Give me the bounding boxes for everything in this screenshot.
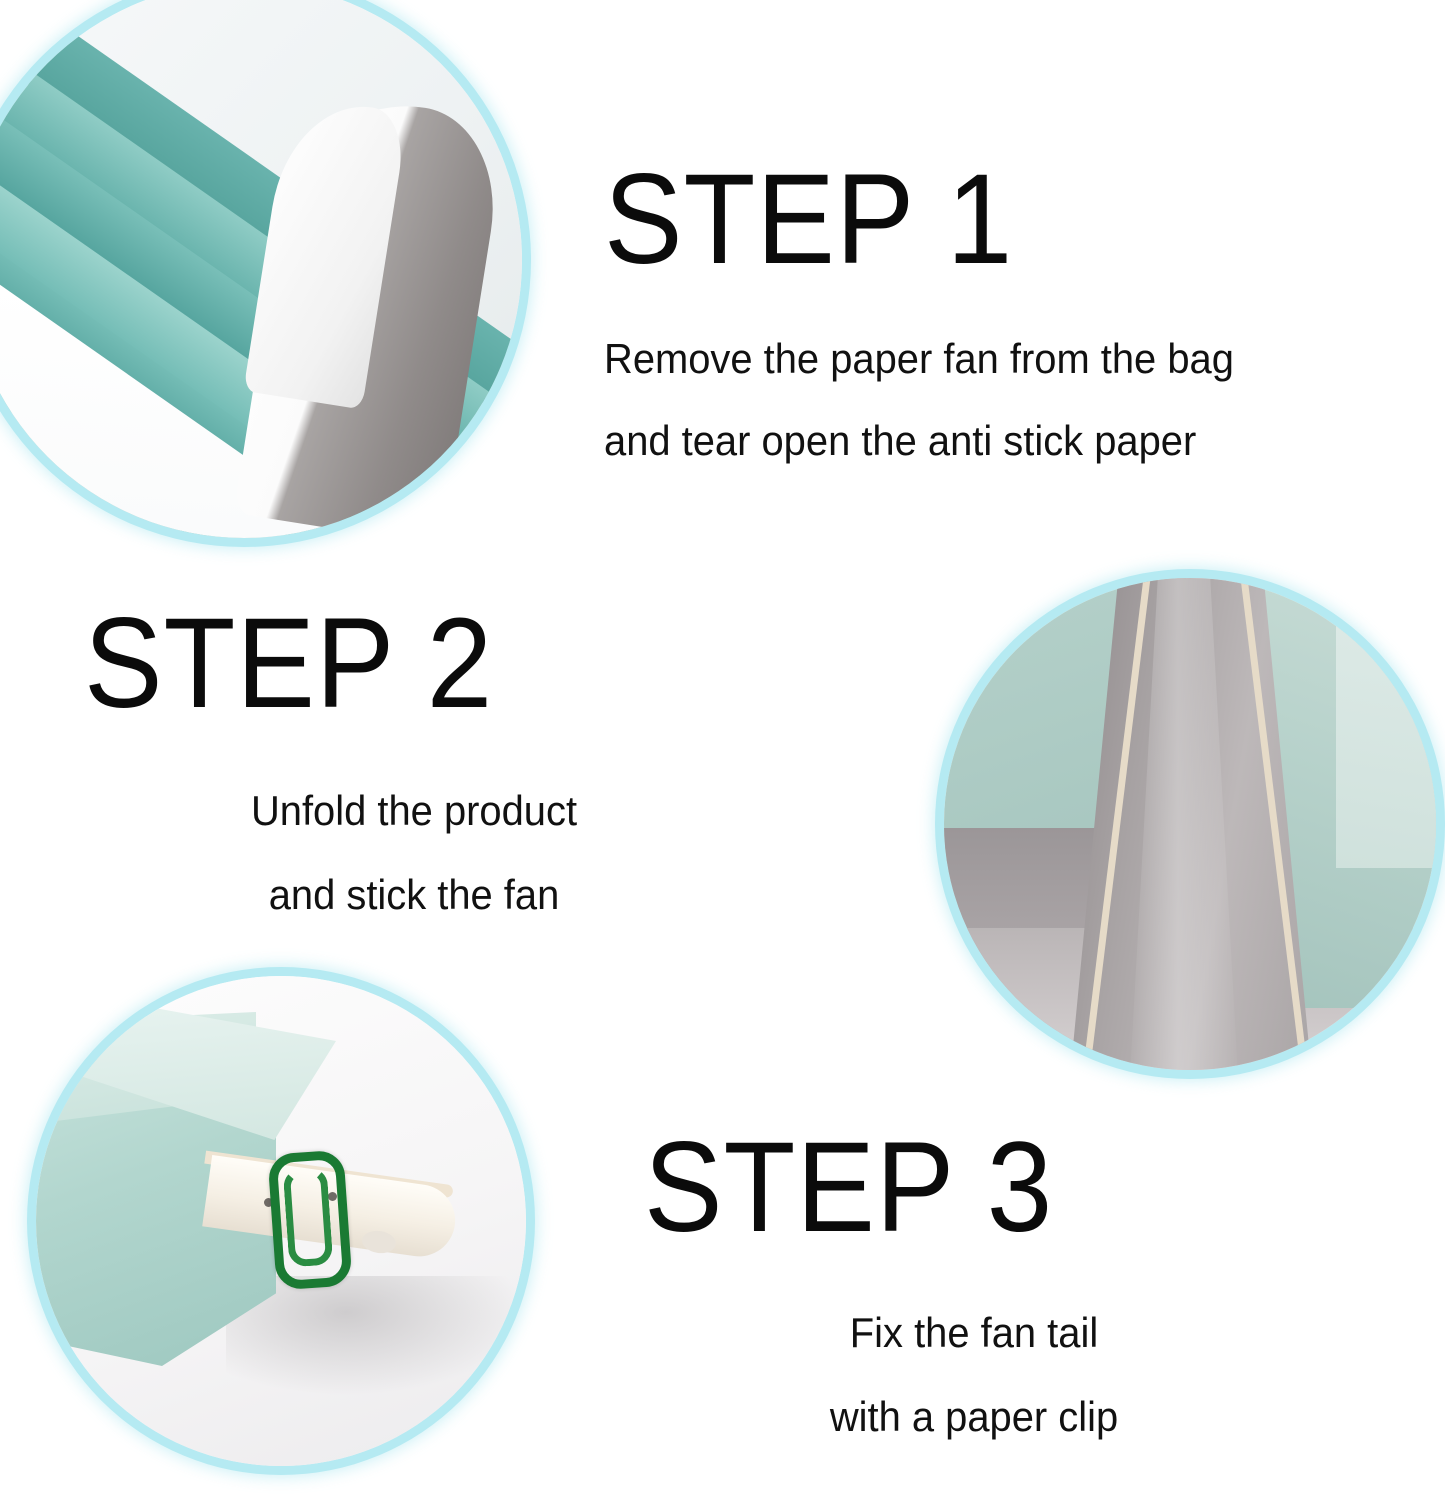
step3-description-line-2: with a paper clip [661,1396,1288,1438]
step1-photo-inner [0,0,522,538]
step3-heading: STEP 3 [644,1124,1251,1252]
step1-description: Remove the paper fan from the bag and te… [604,338,1234,462]
step3-text-block: STEP 3 Fix the fan tail with a paper cli… [644,1124,1304,1438]
step2-description-line-1: Unfold the product [101,790,728,832]
instruction-infographic: STEP 1 Remove the paper fan from the bag… [0,0,1445,1497]
step2-text-block: STEP 2 Unfold the product and stick the … [84,600,744,916]
step3-photo-inner [36,976,526,1466]
step1-text-block: STEP 1 Remove the paper fan from the bag… [604,156,1267,462]
step1-heading: STEP 1 [604,156,1214,284]
step2-description-line-2: and stick the fan [101,874,728,916]
step2-heading: STEP 2 [84,600,691,728]
step1-description-line-2: and tear open the anti stick paper [604,420,1234,462]
step3-description: Fix the fan tail with a paper clip [661,1312,1288,1438]
step3-description-line-1: Fix the fan tail [661,1312,1288,1354]
green-paper-clip-inner-loop-icon [283,1167,334,1268]
step1-photo-circle [0,0,522,538]
step3-photo-circle [36,976,526,1466]
step2-photo-inner [944,578,1436,1070]
step2-photo-circle [944,578,1436,1070]
step2-description: Unfold the product and stick the fan [101,790,728,916]
step1-description-line-1: Remove the paper fan from the bag [604,338,1234,380]
fan-panel-right-pale [1336,578,1436,868]
